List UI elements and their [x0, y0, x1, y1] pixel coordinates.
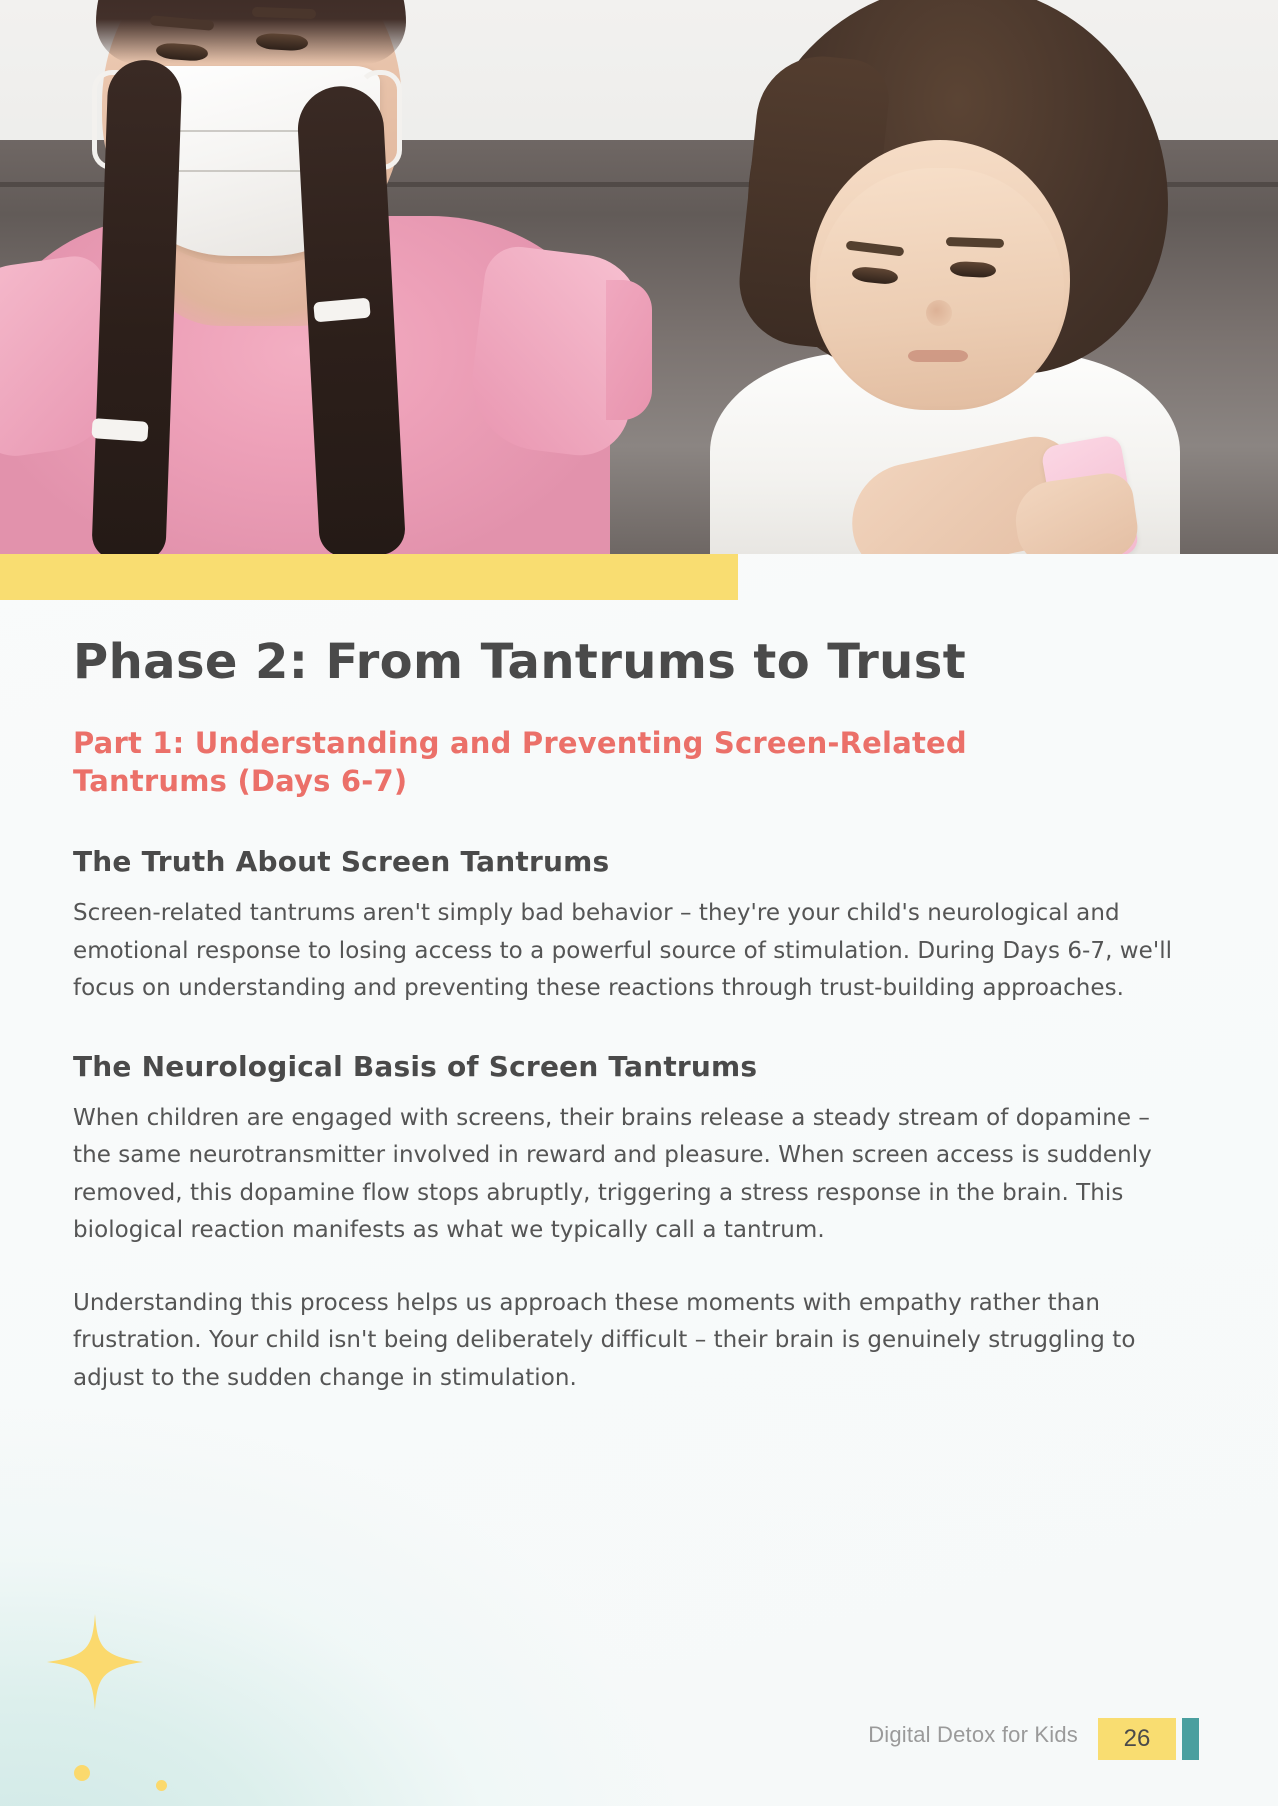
page-number-badge: 26	[1098, 1718, 1176, 1760]
section-heading-neurological-basis: The Neurological Basis of Screen Tantrum…	[73, 1049, 1201, 1084]
content-area: Phase 2: From Tantrums to Trust Part 1: …	[73, 636, 1201, 1397]
spacer	[73, 1007, 1201, 1049]
spacer	[73, 1249, 1201, 1285]
photo-toddler	[620, 0, 1278, 554]
hair-tie	[91, 418, 148, 442]
nose	[926, 300, 952, 326]
section-paragraph: Screen-related tantrums aren't simply ba…	[73, 895, 1183, 1007]
decorative-dot	[74, 1765, 90, 1781]
section-paragraph: Understanding this process helps us appr…	[73, 1285, 1183, 1397]
face	[816, 168, 1064, 406]
sparkle-star-icon	[45, 1612, 145, 1712]
footer-book-title: Digital Detox for Kids	[868, 1722, 1078, 1748]
teal-accent-tab	[1182, 1718, 1199, 1760]
document-page: Phase 2: From Tantrums to Trust Part 1: …	[0, 0, 1278, 1806]
page-footer: Digital Detox for Kids 26	[0, 1712, 1278, 1766]
yellow-accent-bar	[0, 554, 738, 600]
decorative-dot	[156, 1780, 167, 1791]
section-paragraph: When children are engaged with screens, …	[73, 1100, 1183, 1249]
mouth	[908, 350, 968, 362]
hair-top	[96, 0, 406, 64]
part-subtitle: Part 1: Understanding and Preventing Scr…	[73, 724, 1073, 801]
hero-photo	[0, 0, 1278, 554]
photo-child-with-mask	[0, 0, 640, 554]
page-title: Phase 2: From Tantrums to Trust	[73, 636, 1201, 690]
section-heading-truth-about-screen-tantrums: The Truth About Screen Tantrums	[73, 844, 1201, 879]
